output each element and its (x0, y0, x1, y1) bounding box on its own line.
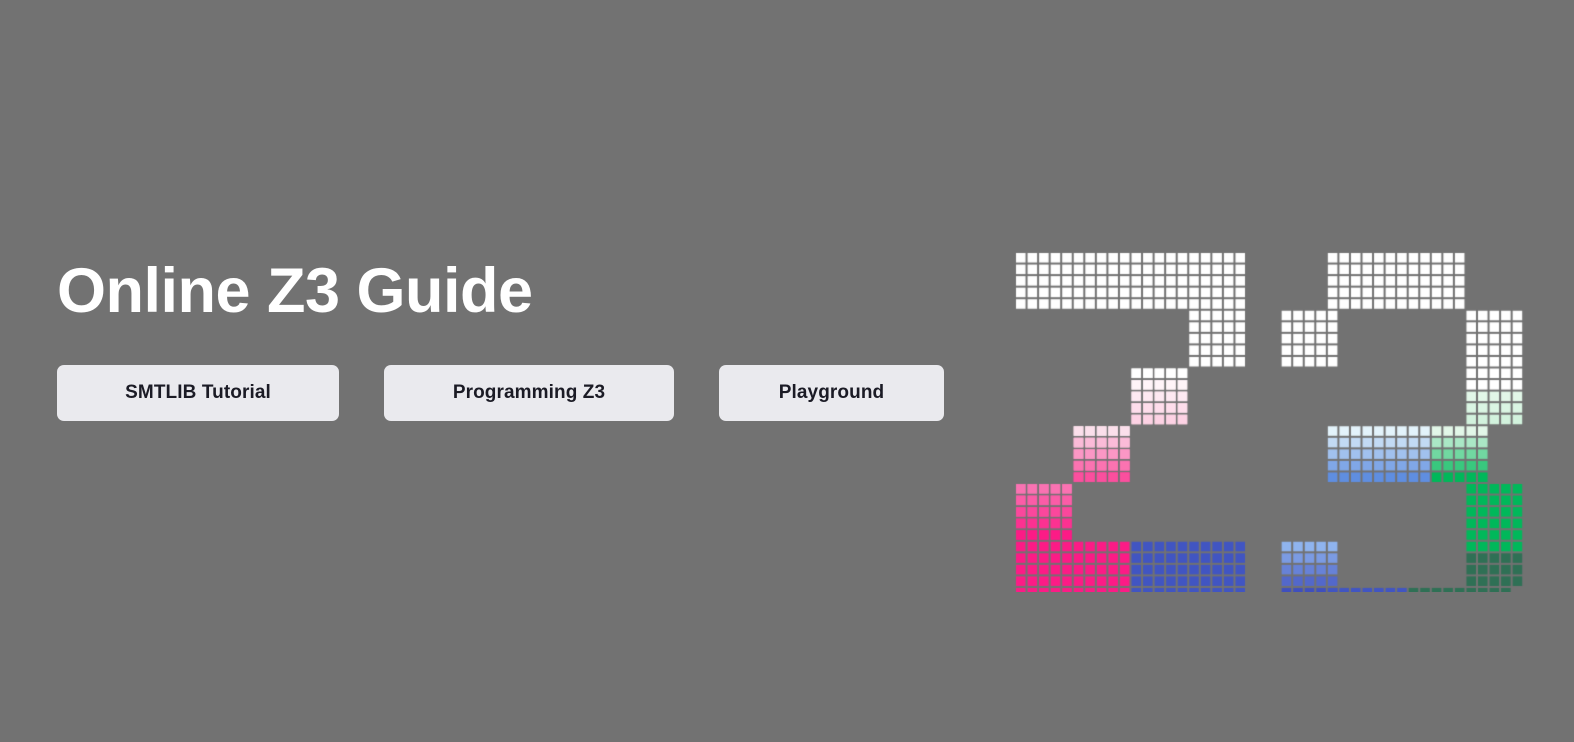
page-title: Online Z3 Guide (57, 258, 957, 324)
hero-text-block: Online Z3 Guide (57, 258, 957, 324)
z3-logo-canvas (1015, 252, 1525, 592)
z3-pixel-logo (1015, 252, 1525, 592)
cta-button-row: SMTLIB Tutorial Programming Z3 Playgroun… (57, 365, 944, 421)
programming-z3-button[interactable]: Programming Z3 (384, 365, 674, 421)
smtlib-tutorial-button[interactable]: SMTLIB Tutorial (57, 365, 339, 421)
playground-button[interactable]: Playground (719, 365, 944, 421)
hero-section: Online Z3 Guide SMTLIB Tutorial Programm… (0, 0, 1574, 742)
